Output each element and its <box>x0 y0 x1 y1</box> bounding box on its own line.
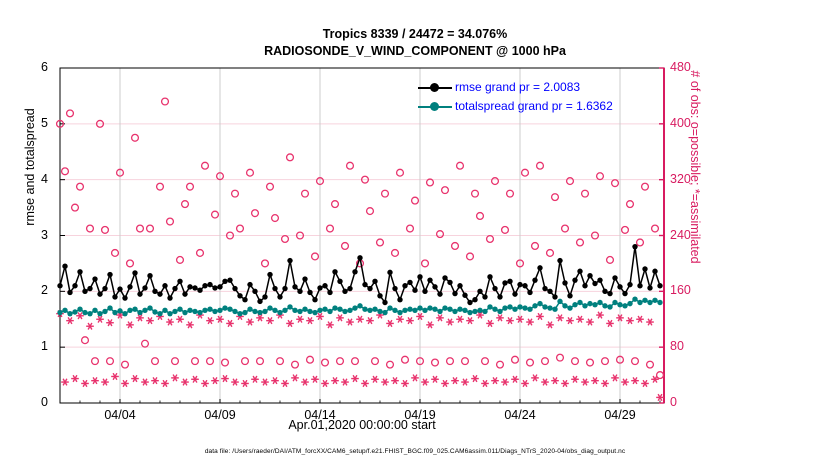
chart-figure: Tropics 8339 / 24472 = 34.076% RADIOSOND… <box>0 0 830 470</box>
series-point-rmse <box>527 290 532 295</box>
obs-possible-marker <box>407 225 414 232</box>
series-point-totalspread <box>642 298 647 303</box>
series-point-rmse <box>272 286 277 291</box>
plot-area <box>0 0 830 470</box>
series-point-rmse <box>412 288 417 293</box>
obs-possible-marker <box>422 260 429 267</box>
series-point-totalspread <box>452 309 457 314</box>
series-point-rmse <box>382 300 387 305</box>
obs-possible-marker <box>332 201 339 208</box>
series-point-totalspread <box>622 303 627 308</box>
series-point-totalspread <box>237 311 242 316</box>
obs-assimilated-marker <box>291 375 299 382</box>
series-point-rmse <box>517 282 522 287</box>
series-point-totalspread <box>207 307 212 312</box>
series-point-totalspread <box>112 310 117 315</box>
obs-possible-marker <box>257 358 264 365</box>
series-point-totalspread <box>462 308 467 313</box>
obs-assimilated-marker <box>586 319 594 326</box>
series-point-rmse <box>202 283 207 288</box>
obs-possible-marker <box>487 236 494 243</box>
series-point-rmse <box>127 284 132 289</box>
obs-assimilated-marker <box>391 377 399 384</box>
obs-assimilated-marker <box>421 379 429 386</box>
obs-possible-marker <box>342 243 349 250</box>
obs-possible-marker <box>492 178 499 185</box>
series-point-totalspread <box>632 296 637 301</box>
obs-assimilated-marker <box>271 377 279 384</box>
series-point-rmse <box>562 280 567 285</box>
series-point-totalspread <box>532 303 537 308</box>
series-point-rmse <box>287 258 292 263</box>
obs-assimilated-marker <box>181 379 189 386</box>
series-point-rmse <box>632 244 637 249</box>
series-point-rmse <box>467 300 472 305</box>
series-point-rmse <box>207 282 212 287</box>
obs-assimilated-marker <box>71 375 79 382</box>
series-point-rmse <box>447 280 452 285</box>
series-point-totalspread <box>627 301 632 306</box>
series-point-rmse <box>402 283 407 288</box>
series-point-totalspread <box>567 305 572 310</box>
obs-assimilated-marker <box>381 379 389 386</box>
obs-possible-marker <box>222 359 229 366</box>
series-point-totalspread <box>302 307 307 312</box>
obs-possible-marker <box>512 356 519 363</box>
series-point-rmse <box>532 277 537 282</box>
series-point-rmse <box>67 290 72 295</box>
series-point-rmse <box>82 289 87 294</box>
series-point-rmse <box>387 270 392 275</box>
series-point-totalspread <box>417 305 422 310</box>
series-point-rmse <box>157 291 162 296</box>
series-point-rmse <box>242 297 247 302</box>
chart-legend: rmse grand pr = 2.0083 totalspread grand… <box>418 78 613 116</box>
obs-assimilated-marker <box>141 379 149 386</box>
series-point-rmse <box>482 294 487 299</box>
obs-assimilated-marker <box>491 377 499 384</box>
obs-possible-marker <box>327 225 334 232</box>
obs-assimilated-marker <box>501 379 509 386</box>
obs-assimilated-marker <box>451 377 459 384</box>
obs-possible-marker <box>462 358 469 365</box>
obs-possible-marker <box>272 215 279 222</box>
obs-assimilated-marker <box>326 322 334 329</box>
series-point-totalspread <box>252 309 257 314</box>
obs-assimilated-marker <box>406 317 414 324</box>
series-point-rmse <box>617 284 622 289</box>
series-point-rmse <box>77 269 82 274</box>
obs-possible-marker <box>627 201 634 208</box>
obs-possible-marker <box>177 257 184 264</box>
obs-possible-marker <box>197 250 204 257</box>
series-point-totalspread <box>282 308 287 313</box>
series-point-totalspread <box>222 305 227 310</box>
obs-assimilated-marker <box>551 377 559 384</box>
series-point-rmse <box>252 289 257 294</box>
series-point-rmse <box>302 276 307 281</box>
obs-assimilated-marker <box>351 375 359 382</box>
series-point-rmse <box>452 291 457 296</box>
series-point-rmse <box>557 258 562 263</box>
series-point-rmse <box>222 279 227 284</box>
obs-possible-marker <box>652 225 659 232</box>
obs-assimilated-marker <box>286 320 294 327</box>
series-point-totalspread <box>512 307 517 312</box>
series-point-rmse <box>612 275 617 280</box>
series-point-totalspread <box>422 308 427 313</box>
obs-assimilated-marker <box>511 376 519 383</box>
series-point-totalspread <box>347 308 352 313</box>
series-point-totalspread <box>607 304 612 309</box>
series-point-totalspread <box>72 309 77 314</box>
obs-possible-marker <box>637 239 644 246</box>
obs-assimilated-marker <box>331 377 339 384</box>
series-point-rmse <box>322 283 327 288</box>
obs-assimilated-marker <box>111 373 119 380</box>
series-point-totalspread <box>152 309 157 314</box>
obs-possible-marker <box>167 218 174 225</box>
series-point-totalspread <box>527 307 532 312</box>
obs-assimilated-marker <box>346 319 354 326</box>
obs-assimilated-marker <box>576 316 584 323</box>
obs-possible-marker <box>147 225 154 232</box>
data-file-footer: data file: /Users/raeder/DAI/ATM_forcXX/… <box>0 448 830 455</box>
obs-assimilated-marker <box>321 380 329 387</box>
obs-possible-marker <box>547 250 554 257</box>
series-point-totalspread <box>202 308 207 313</box>
series-point-rmse <box>132 270 137 275</box>
obs-assimilated-marker <box>456 316 464 323</box>
series-point-totalspread <box>337 307 342 312</box>
obs-assimilated-marker <box>636 316 644 323</box>
obs-assimilated-marker <box>581 379 589 386</box>
obs-possible-marker <box>632 358 639 365</box>
series-point-rmse <box>512 291 517 296</box>
obs-assimilated-marker <box>401 380 409 387</box>
series-point-rmse <box>592 281 597 286</box>
obs-possible-marker <box>252 210 259 217</box>
obs-assimilated-marker <box>481 380 489 387</box>
series-point-totalspread <box>57 310 62 315</box>
series-point-totalspread <box>242 310 247 315</box>
series-point-totalspread <box>542 304 547 309</box>
series-point-rmse <box>477 289 482 294</box>
series-point-rmse <box>332 269 337 274</box>
obs-assimilated-marker <box>361 380 369 387</box>
series-point-rmse <box>192 285 197 290</box>
obs-possible-marker <box>202 162 209 169</box>
obs-assimilated-marker <box>151 377 159 384</box>
obs-assimilated-marker <box>601 380 609 387</box>
series-point-rmse <box>142 285 147 290</box>
legend-label-rmse: rmse grand pr = 2.0083 <box>455 78 580 97</box>
obs-assimilated-marker <box>471 375 479 382</box>
obs-assimilated-marker <box>296 316 304 323</box>
obs-assimilated-marker <box>566 317 574 324</box>
series-point-totalspread <box>467 310 472 315</box>
obs-possible-marker <box>597 173 604 180</box>
series-point-rmse <box>487 274 492 279</box>
obs-possible-marker <box>122 361 129 368</box>
series-point-totalspread <box>637 300 642 305</box>
series-point-totalspread <box>317 308 322 313</box>
series-point-rmse <box>622 291 627 296</box>
obs-possible-marker <box>412 197 419 204</box>
series-point-totalspread <box>197 310 202 315</box>
obs-possible-marker <box>107 358 114 365</box>
series-point-totalspread <box>547 305 552 310</box>
series-point-totalspread <box>502 305 507 310</box>
obs-possible-marker <box>557 354 564 361</box>
obs-possible-marker <box>542 358 549 365</box>
series-point-totalspread <box>117 308 122 313</box>
legend-item-totalspread[interactable]: totalspread grand pr = 1.6362 <box>418 97 613 116</box>
series-point-totalspread <box>507 304 512 309</box>
series-point-rmse <box>397 297 402 302</box>
series-point-totalspread <box>342 309 347 314</box>
legend-marker-rmse <box>418 82 452 94</box>
obs-possible-marker <box>527 359 534 366</box>
series-point-totalspread <box>277 310 282 315</box>
series-point-totalspread <box>157 311 162 316</box>
series-point-totalspread <box>402 308 407 313</box>
series-point-totalspread <box>587 301 592 306</box>
obs-possible-marker <box>607 257 614 264</box>
obs-possible-marker <box>582 190 589 197</box>
series-point-rmse <box>572 277 577 282</box>
series-point-totalspread <box>307 309 312 314</box>
obs-possible-marker <box>152 358 159 365</box>
obs-possible-marker <box>352 358 359 365</box>
obs-assimilated-marker <box>201 380 209 387</box>
series-point-totalspread <box>427 305 432 310</box>
obs-assimilated-marker <box>256 315 264 322</box>
obs-possible-marker <box>312 253 319 260</box>
obs-assimilated-marker <box>211 377 219 384</box>
obs-assimilated-marker <box>136 315 144 322</box>
series-point-rmse <box>87 286 92 291</box>
obs-possible-marker <box>62 168 69 175</box>
obs-assimilated-marker <box>106 319 114 326</box>
legend-item-rmse[interactable]: rmse grand pr = 2.0083 <box>418 78 613 97</box>
obs-possible-marker <box>497 361 504 368</box>
series-point-totalspread <box>572 302 577 307</box>
obs-possible-marker <box>277 358 284 365</box>
series-point-rmse <box>232 286 237 291</box>
obs-assimilated-marker <box>496 315 504 322</box>
series-point-totalspread <box>322 307 327 312</box>
series-point-totalspread <box>297 309 302 314</box>
obs-assimilated-marker <box>611 375 619 382</box>
obs-possible-marker <box>242 358 249 365</box>
obs-possible-marker <box>447 358 454 365</box>
obs-possible-marker <box>307 356 314 363</box>
obs-possible-marker <box>442 187 449 194</box>
series-point-totalspread <box>362 307 367 312</box>
obs-assimilated-marker <box>461 379 469 386</box>
obs-assimilated-marker <box>641 380 649 387</box>
legend-label-totalspread: totalspread grand pr = 1.6362 <box>455 97 613 116</box>
obs-possible-marker <box>402 356 409 363</box>
series-point-totalspread <box>137 310 142 315</box>
obs-assimilated-marker <box>371 376 379 383</box>
series-point-totalspread <box>262 309 267 314</box>
series-point-rmse <box>547 289 552 294</box>
obs-possible-marker <box>267 183 274 190</box>
obs-assimilated-marker <box>606 320 614 327</box>
series-point-totalspread <box>577 300 582 305</box>
series-point-rmse <box>217 284 222 289</box>
obs-assimilated-marker <box>626 317 634 324</box>
series-point-totalspread <box>657 300 662 305</box>
series-point-rmse <box>357 255 362 260</box>
obs-possible-marker <box>532 243 539 250</box>
series-point-totalspread <box>562 303 567 308</box>
obs-assimilated-marker <box>431 376 439 383</box>
obs-assimilated-marker <box>166 319 174 326</box>
series-point-rmse <box>597 277 602 282</box>
series-point-rmse <box>422 289 427 294</box>
series-point-rmse <box>502 280 507 285</box>
series-point-totalspread <box>432 307 437 312</box>
series-point-rmse <box>627 282 632 287</box>
obs-assimilated-marker <box>126 322 134 329</box>
series-point-totalspread <box>287 304 292 309</box>
series-point-rmse <box>437 291 442 296</box>
obs-possible-marker <box>347 162 354 169</box>
obs-possible-marker <box>572 358 579 365</box>
series-point-rmse <box>277 294 282 299</box>
obs-assimilated-marker <box>131 375 139 382</box>
obs-assimilated-marker <box>526 319 534 326</box>
series-point-rmse <box>282 286 287 291</box>
series-point-totalspread <box>487 304 492 309</box>
series-point-rmse <box>577 269 582 274</box>
obs-possible-marker <box>182 201 189 208</box>
series-point-totalspread <box>67 311 72 316</box>
series-point-totalspread <box>357 303 362 308</box>
obs-assimilated-marker <box>656 394 664 401</box>
series-point-rmse <box>497 294 502 299</box>
series-point-rmse <box>442 275 447 280</box>
obs-possible-marker <box>472 190 479 197</box>
obs-possible-marker <box>137 225 144 232</box>
series-point-totalspread <box>397 310 402 315</box>
obs-possible-marker <box>367 208 374 215</box>
series-point-rmse <box>117 286 122 291</box>
obs-assimilated-marker <box>91 377 99 384</box>
series-point-rmse <box>227 277 232 282</box>
obs-possible-marker <box>567 178 574 185</box>
obs-assimilated-marker <box>531 375 539 382</box>
series-point-totalspread <box>392 308 397 313</box>
series-point-rmse <box>567 293 572 298</box>
series-point-rmse <box>162 283 167 288</box>
series-point-rmse <box>462 293 467 298</box>
obs-assimilated-marker <box>121 380 129 387</box>
obs-assimilated-marker <box>386 320 394 327</box>
obs-possible-marker <box>477 213 484 220</box>
obs-possible-marker <box>467 253 474 260</box>
series-point-rmse <box>112 294 117 299</box>
series-point-totalspread <box>597 300 602 305</box>
series-point-totalspread <box>227 307 232 312</box>
obs-assimilated-marker <box>66 317 74 324</box>
series-point-rmse <box>657 283 662 288</box>
series-point-rmse <box>417 274 422 279</box>
series-point-rmse <box>107 272 112 277</box>
obs-assimilated-marker <box>266 317 274 324</box>
obs-assimilated-marker <box>301 379 309 386</box>
series-point-totalspread <box>492 307 497 312</box>
obs-assimilated-marker <box>261 379 269 386</box>
series-point-rmse <box>432 284 437 289</box>
series-point-rmse <box>102 286 107 291</box>
series-point-totalspread <box>87 311 92 316</box>
obs-possible-marker <box>282 236 289 243</box>
series-point-totalspread <box>407 307 412 312</box>
series-point-rmse <box>237 293 242 298</box>
obs-possible-marker <box>372 358 379 365</box>
series-point-rmse <box>327 290 332 295</box>
obs-assimilated-marker <box>366 317 374 324</box>
obs-assimilated-marker <box>426 322 434 329</box>
series-point-totalspread <box>652 298 657 303</box>
series-point-totalspread <box>537 301 542 306</box>
obs-possible-marker <box>232 190 239 197</box>
series-point-totalspread <box>212 309 217 314</box>
obs-assimilated-marker <box>176 316 184 323</box>
obs-assimilated-marker <box>206 317 214 324</box>
obs-possible-marker <box>82 337 89 344</box>
obs-assimilated-marker <box>556 315 564 322</box>
series-point-totalspread <box>92 308 97 313</box>
obs-assimilated-marker <box>446 319 454 326</box>
obs-possible-marker <box>172 358 179 365</box>
series-point-totalspread <box>272 308 277 313</box>
series-point-rmse <box>62 264 67 269</box>
series-point-totalspread <box>332 305 337 310</box>
series-point-rmse <box>172 286 177 291</box>
series-point-rmse <box>292 284 297 289</box>
obs-assimilated-marker <box>441 380 449 387</box>
obs-possible-marker <box>292 361 299 368</box>
series-point-rmse <box>587 273 592 278</box>
series-point-rmse <box>257 299 262 304</box>
obs-possible-marker <box>157 183 164 190</box>
obs-assimilated-marker <box>571 376 579 383</box>
obs-assimilated-marker <box>541 379 549 386</box>
series-point-totalspread <box>352 305 357 310</box>
series-point-totalspread <box>107 305 112 310</box>
obs-possible-marker <box>127 260 134 267</box>
series-point-rmse <box>492 286 497 291</box>
series-point-rmse <box>197 288 202 293</box>
obs-possible-marker <box>482 358 489 365</box>
series-point-rmse <box>72 283 77 288</box>
series-point-totalspread <box>182 310 187 315</box>
obs-assimilated-marker <box>621 379 629 386</box>
series-point-rmse <box>522 283 527 288</box>
series-point-totalspread <box>102 309 107 314</box>
series-point-rmse <box>122 295 127 300</box>
series-point-rmse <box>167 295 172 300</box>
series-point-rmse <box>407 280 412 285</box>
obs-assimilated-marker <box>436 315 444 322</box>
series-point-totalspread <box>217 308 222 313</box>
series-point-rmse <box>647 285 652 290</box>
